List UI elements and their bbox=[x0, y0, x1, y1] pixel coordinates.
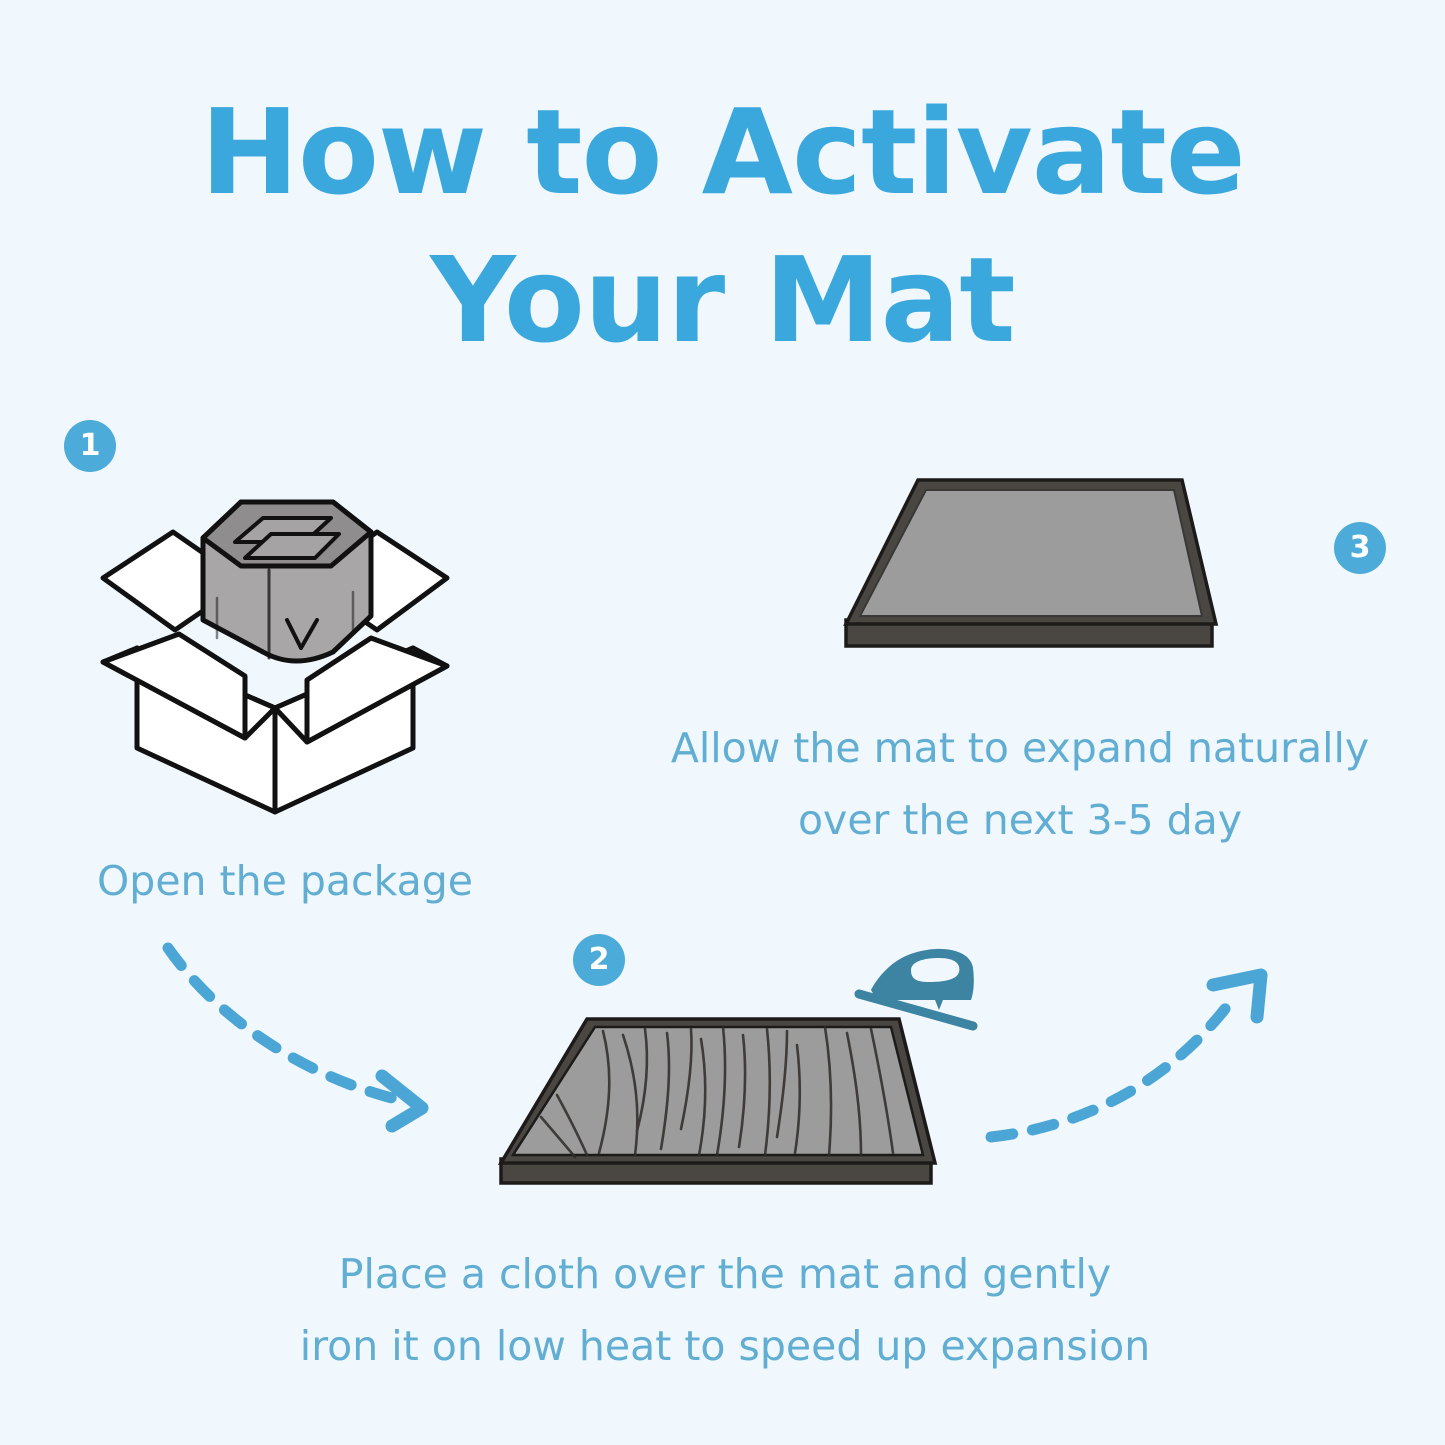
page-title-line-1: How to Activate bbox=[200, 83, 1245, 221]
step-badge-1: 1 bbox=[64, 420, 116, 472]
step-1-caption: Open the package bbox=[20, 845, 550, 917]
wrinkled-mat-svg bbox=[495, 1005, 955, 1210]
infographic-canvas: How to Activate Your Mat 1 bbox=[0, 0, 1445, 1445]
expanded-mat-illustration bbox=[840, 470, 1290, 660]
step-3-caption: Allow the mat to expand naturally over t… bbox=[620, 712, 1420, 856]
arrow-1-svg bbox=[160, 930, 480, 1140]
packed-mat-bundle bbox=[203, 502, 371, 661]
open-package-illustration bbox=[95, 480, 455, 820]
step-2-caption: Place a cloth over the mat and gently ir… bbox=[200, 1238, 1250, 1382]
curved-dashed-arrow-up-right-icon bbox=[985, 965, 1285, 1170]
expanded-mat-svg bbox=[840, 470, 1290, 660]
curved-dashed-arrow-down-right-icon bbox=[160, 930, 480, 1140]
open-box-svg bbox=[95, 480, 455, 820]
arrow-1-dashed-path bbox=[168, 948, 408, 1102]
page-title-line-2: Your Mat bbox=[0, 226, 1445, 374]
wrinkled-mat-illustration bbox=[495, 1005, 955, 1210]
step-badge-2: 2 bbox=[573, 934, 625, 986]
arrow-2-dashed-path bbox=[991, 993, 1237, 1137]
arrow-2-svg bbox=[985, 965, 1285, 1170]
iron-handle-cutout bbox=[911, 958, 959, 982]
step-badge-3: 3 bbox=[1334, 522, 1386, 574]
page-title: How to Activate Your Mat bbox=[0, 78, 1445, 374]
